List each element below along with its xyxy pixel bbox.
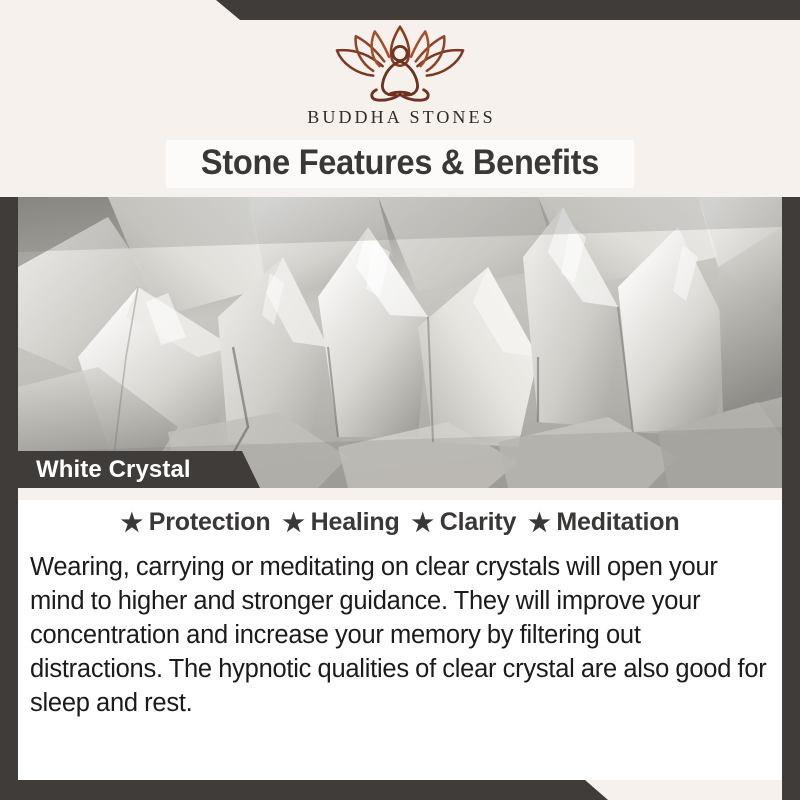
star-icon: ★ bbox=[528, 508, 550, 538]
benefit-item: ★Protection bbox=[121, 508, 271, 538]
content-top-strip bbox=[18, 488, 782, 500]
benefit-label: Meditation bbox=[556, 508, 679, 536]
benefit-label: Protection bbox=[149, 508, 271, 536]
brand-logo: BUDDHA STONES bbox=[0, 22, 800, 128]
star-icon: ★ bbox=[121, 508, 143, 538]
lotus-meditation-figure-icon bbox=[320, 22, 480, 104]
page-title: Stone Features & Benefits bbox=[28, 138, 772, 188]
frame-bottom-bar bbox=[0, 780, 800, 800]
poster-canvas: BUDDHA STONES Stone Features & Benefits bbox=[0, 0, 800, 800]
content-section: ★Protection ★Healing ★Clarity ★Meditatio… bbox=[18, 488, 782, 780]
frame-left-mask bbox=[0, 0, 18, 197]
description-text: Wearing, carrying or meditating on clear… bbox=[30, 550, 770, 720]
white-crystal-cluster-photo bbox=[18, 197, 782, 488]
frame-right-mask bbox=[782, 20, 800, 197]
benefit-item: ★Healing bbox=[282, 508, 399, 538]
benefit-label: Clarity bbox=[440, 508, 516, 536]
benefits-list: ★Protection ★Healing ★Clarity ★Meditatio… bbox=[18, 508, 782, 538]
benefit-label: Healing bbox=[311, 508, 400, 536]
benefit-item: ★Meditation bbox=[528, 508, 679, 538]
star-icon: ★ bbox=[282, 508, 304, 538]
benefit-item: ★Clarity bbox=[412, 508, 517, 538]
stone-name-label: White Crystal bbox=[36, 455, 191, 485]
brand-name: BUDDHA STONES bbox=[0, 107, 800, 128]
star-icon: ★ bbox=[412, 508, 434, 538]
